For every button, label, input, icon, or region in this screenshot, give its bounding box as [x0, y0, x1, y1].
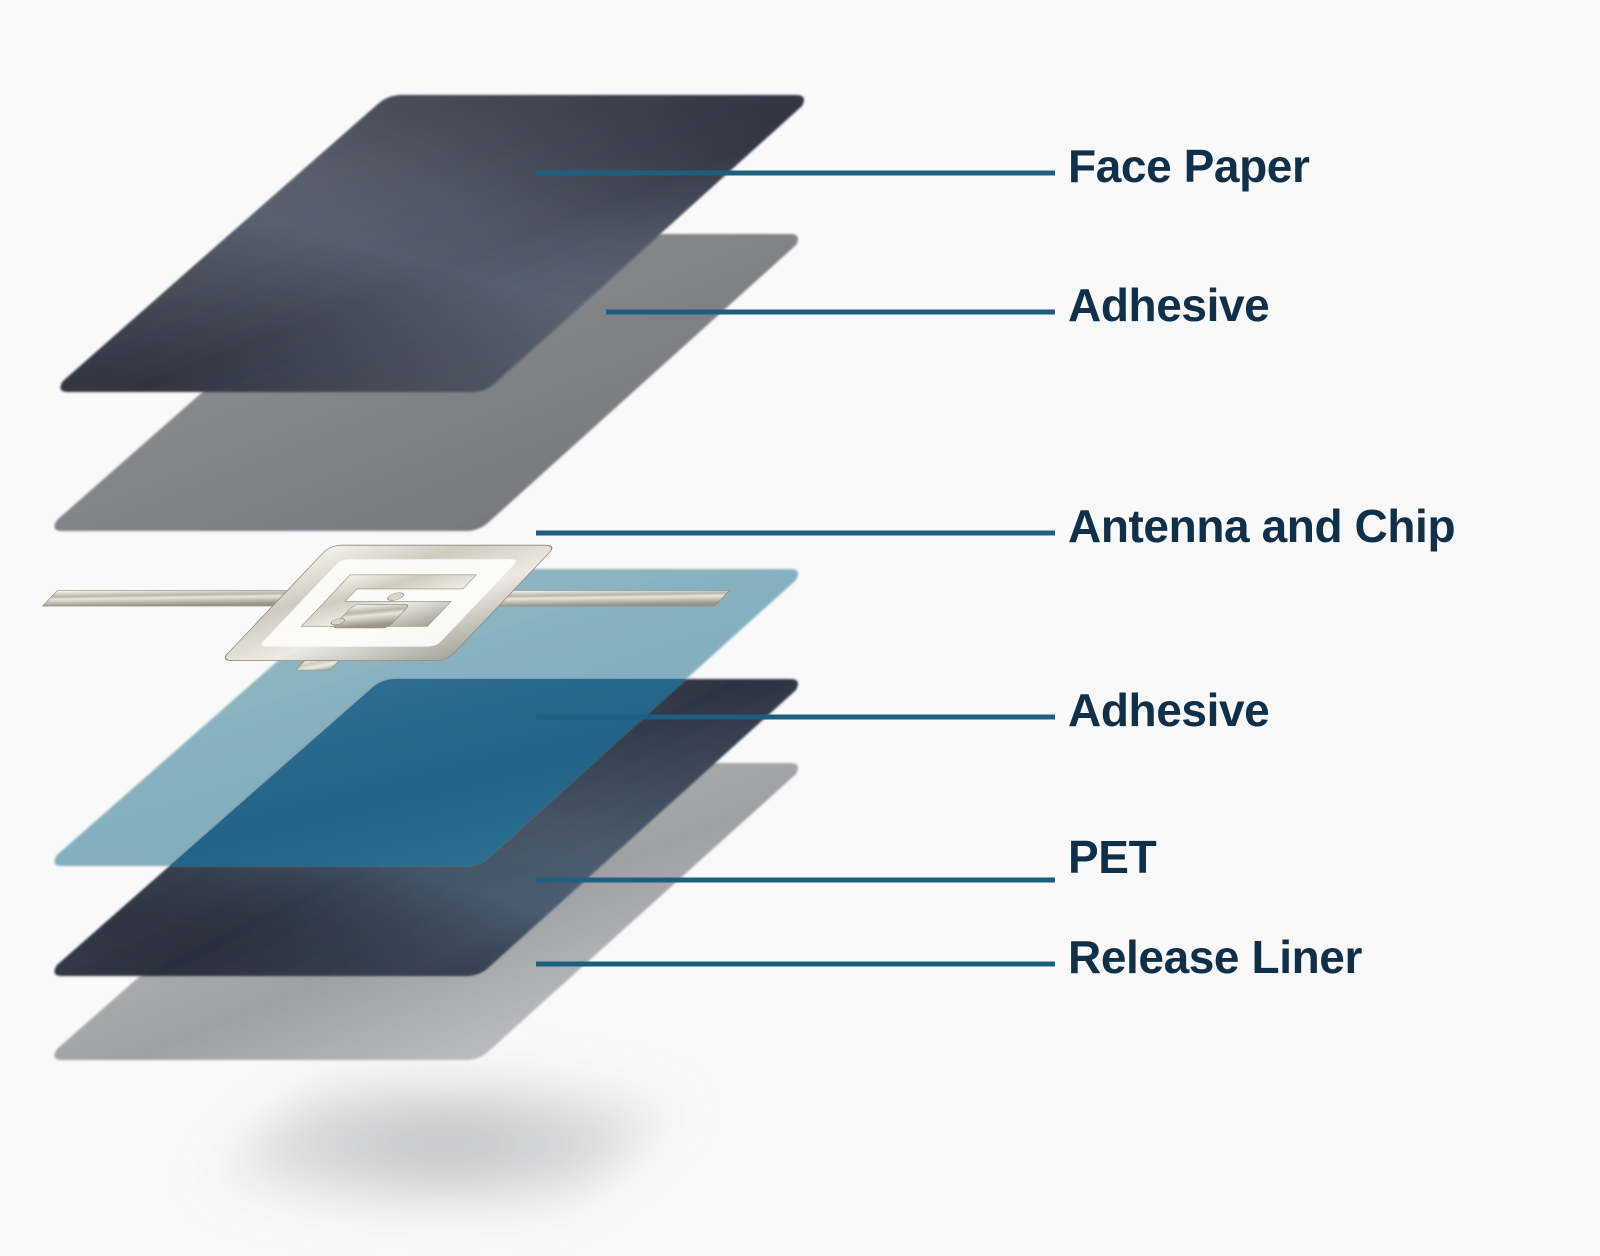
diagram-canvas: Face Paper Adhesive Antenna and Chip Adh…	[0, 0, 1600, 1256]
exploded-view-illustration	[0, 0, 1060, 1256]
ground-shadow	[145, 1062, 760, 1225]
label-antenna-and-chip: Antenna and Chip	[1068, 503, 1455, 549]
label-row-pet[interactable]: PET	[1068, 834, 1156, 880]
label-pet: PET	[1068, 834, 1156, 880]
label-row-antenna-and-chip[interactable]: Antenna and Chip	[1068, 503, 1455, 549]
label-row-adhesive-top[interactable]: Adhesive	[1068, 282, 1269, 328]
label-adhesive-top: Adhesive	[1068, 282, 1269, 328]
label-row-face-paper[interactable]: Face Paper	[1068, 143, 1309, 189]
label-release-liner: Release Liner	[1068, 934, 1362, 980]
label-adhesive-bottom: Adhesive	[1068, 687, 1269, 733]
label-row-adhesive-bottom[interactable]: Adhesive	[1068, 687, 1269, 733]
label-row-release-liner[interactable]: Release Liner	[1068, 934, 1362, 980]
label-face-paper: Face Paper	[1068, 143, 1309, 189]
